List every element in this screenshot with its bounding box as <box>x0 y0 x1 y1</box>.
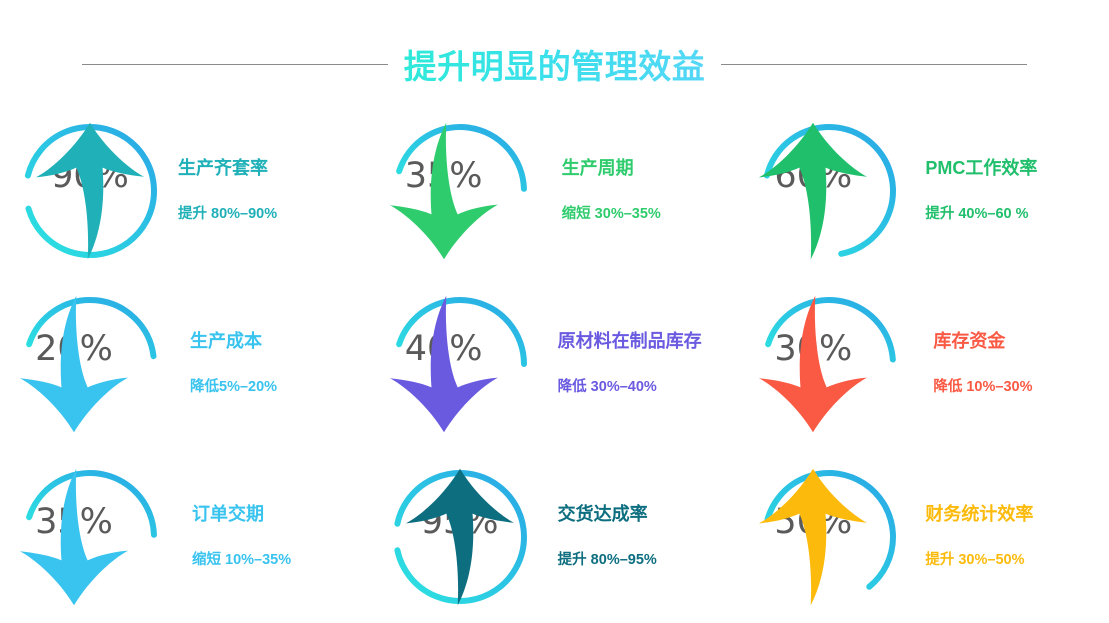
page-header: 提升明显的管理效益 <box>0 36 1109 92</box>
dial-center: 35% <box>370 117 518 265</box>
dial-center: 95% <box>386 463 534 611</box>
progress-ring: 35% <box>386 117 534 265</box>
dial-center: 40% <box>370 290 518 438</box>
metric-text-block: 订单交期缩短 10%–35% <box>192 504 291 569</box>
metric-title: 原材料在制品库存 <box>558 331 702 353</box>
card-pmc-work-efficiency[interactable]: 60%PMC工作效率提升 40%–60 % <box>739 104 1109 277</box>
dial-center: 35% <box>0 463 148 611</box>
progress-ring: 35% <box>16 463 164 611</box>
progress-ring: 90% <box>16 117 164 265</box>
metric-text-block: 交货达成率提升 80%–95% <box>558 504 657 569</box>
metric-title: 交货达成率 <box>558 504 648 526</box>
metric-subtitle: 降低 10%–30% <box>933 379 1032 396</box>
metric-text-block: 生产齐套率提升 80%–90% <box>178 158 277 223</box>
card-order-lead-time[interactable]: 35%订单交期缩短 10%–35% <box>0 450 370 623</box>
card-production-kitting-rate[interactable]: 90%生产齐套率提升 80%–90% <box>0 104 370 277</box>
progress-ring: 60% <box>755 117 903 265</box>
progress-ring: 20% <box>16 290 164 438</box>
divider-line-left <box>82 64 388 65</box>
card-delivery-achievement-rate[interactable]: 95%交货达成率提升 80%–95% <box>370 450 740 623</box>
metric-subtitle: 降低5%–20% <box>190 379 277 396</box>
metric-title: 生产周期 <box>562 158 634 180</box>
metric-subtitle: 提升 80%–95% <box>558 552 657 569</box>
metric-subtitle: 提升 40%–60 % <box>925 206 1028 223</box>
metric-title: 订单交期 <box>192 504 264 526</box>
progress-ring: 50% <box>755 463 903 611</box>
divider-line-right <box>721 64 1027 65</box>
metric-text-block: PMC工作效率提升 40%–60 % <box>925 158 1037 223</box>
metric-text-block: 生产周期缩短 30%–35% <box>562 158 661 223</box>
metric-title: 库存资金 <box>933 331 1005 353</box>
metric-text-block: 财务统计效率提升 30%–50% <box>925 504 1033 569</box>
metric-subtitle: 提升 80%–90% <box>178 206 277 223</box>
metric-title: PMC工作效率 <box>925 158 1037 180</box>
dial-center: 60% <box>739 117 887 265</box>
dial-center: 90% <box>16 117 164 265</box>
metric-subtitle: 提升 30%–50% <box>925 552 1024 569</box>
metric-text-block: 库存资金降低 10%–30% <box>933 331 1032 396</box>
metric-subtitle: 缩短 30%–35% <box>562 206 661 223</box>
metric-title: 生产齐套率 <box>178 158 268 180</box>
progress-ring: 40% <box>386 290 534 438</box>
metric-subtitle: 缩短 10%–35% <box>192 552 291 569</box>
progress-ring: 30% <box>755 290 903 438</box>
metric-text-block: 原材料在制品库存降低 30%–40% <box>558 331 702 396</box>
metric-card-grid: 90%生产齐套率提升 80%–90%35%生产周期缩短 30%–35%60%PM… <box>0 104 1109 623</box>
metric-title: 财务统计效率 <box>925 504 1033 526</box>
dial-center: 50% <box>739 463 887 611</box>
metric-subtitle: 降低 30%–40% <box>558 379 657 396</box>
dial-center: 30% <box>739 290 887 438</box>
page-title: 提升明显的管理效益 <box>404 40 706 88</box>
card-production-cost[interactable]: 20%生产成本降低5%–20% <box>0 277 370 450</box>
card-inventory-capital[interactable]: 30%库存资金降低 10%–30% <box>739 277 1109 450</box>
card-finance-statistics-efficiency[interactable]: 50%财务统计效率提升 30%–50% <box>739 450 1109 623</box>
infographic-page: 提升明显的管理效益 90%生产齐套率提升 80%–90%35%生产周期缩短 30… <box>0 0 1109 623</box>
metric-text-block: 生产成本降低5%–20% <box>190 331 277 396</box>
progress-ring: 95% <box>386 463 534 611</box>
card-production-cycle[interactable]: 35%生产周期缩短 30%–35% <box>370 104 740 277</box>
metric-title: 生产成本 <box>190 331 262 353</box>
dial-center: 20% <box>0 290 148 438</box>
card-raw-material-wip-inventory[interactable]: 40%原材料在制品库存降低 30%–40% <box>370 277 740 450</box>
